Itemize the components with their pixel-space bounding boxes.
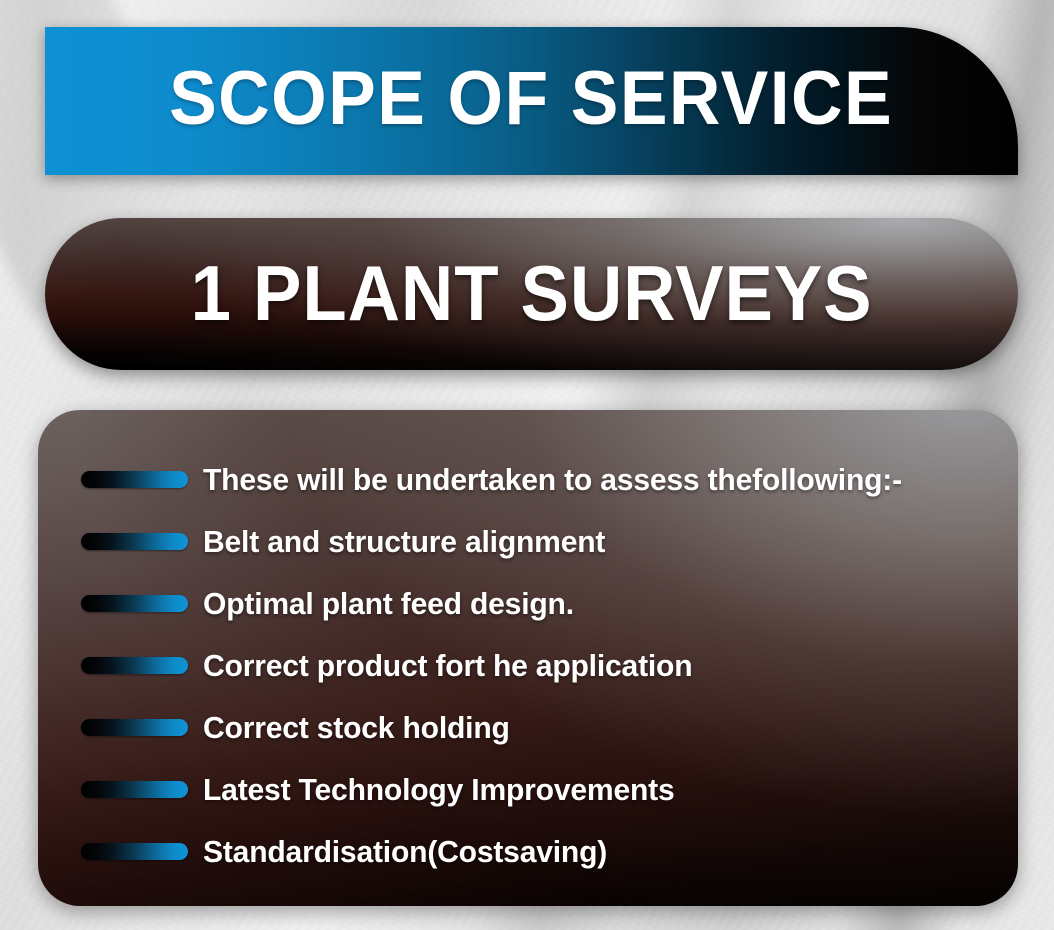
list-item: Correct product fort he application (43, 634, 1018, 696)
bullet-text: Correct stock holding (203, 712, 510, 743)
list-item: Belt and structure alignment (43, 510, 1018, 572)
list-item: Optimal plant feed design. (43, 572, 1018, 634)
page-title: SCOPE OF SERVICE (170, 61, 894, 137)
bullet-text: Belt and structure alignment (203, 526, 605, 557)
bullet-text: Optimal plant feed design. (203, 588, 574, 619)
bullet-text: These will be undertaken to assess thefo… (203, 464, 902, 495)
slide-canvas: SCOPE OF SERVICE 1 PLANT SURVEYS These w… (0, 0, 1054, 930)
bullet-pill-icon (81, 719, 188, 736)
list-item: Latest Technology Improvements (43, 758, 1018, 820)
list-item: Correct stock holding (43, 696, 1018, 758)
bullet-list: These will be undertaken to assess thefo… (38, 410, 1018, 882)
list-item: These will be undertaken to assess thefo… (43, 448, 1018, 510)
section-heading-label: 1 PLANT SURVEYS (191, 254, 873, 332)
bullet-text: Correct product fort he application (203, 650, 692, 681)
list-item: Standardisation(Costsaving) (43, 820, 1018, 882)
header-banner: SCOPE OF SERVICE (45, 27, 1018, 175)
content-panel: These will be undertaken to assess thefo… (38, 410, 1018, 906)
bullet-pill-icon (81, 781, 188, 798)
bullet-pill-icon (81, 595, 188, 612)
bullet-pill-icon (81, 657, 188, 674)
section-heading-pill: 1 PLANT SURVEYS (45, 218, 1018, 370)
bullet-pill-icon (81, 533, 188, 550)
bullet-pill-icon (81, 471, 188, 488)
bullet-text: Latest Technology Improvements (203, 774, 675, 805)
bullet-text: Standardisation(Costsaving) (203, 836, 607, 867)
bullet-pill-icon (81, 843, 188, 860)
